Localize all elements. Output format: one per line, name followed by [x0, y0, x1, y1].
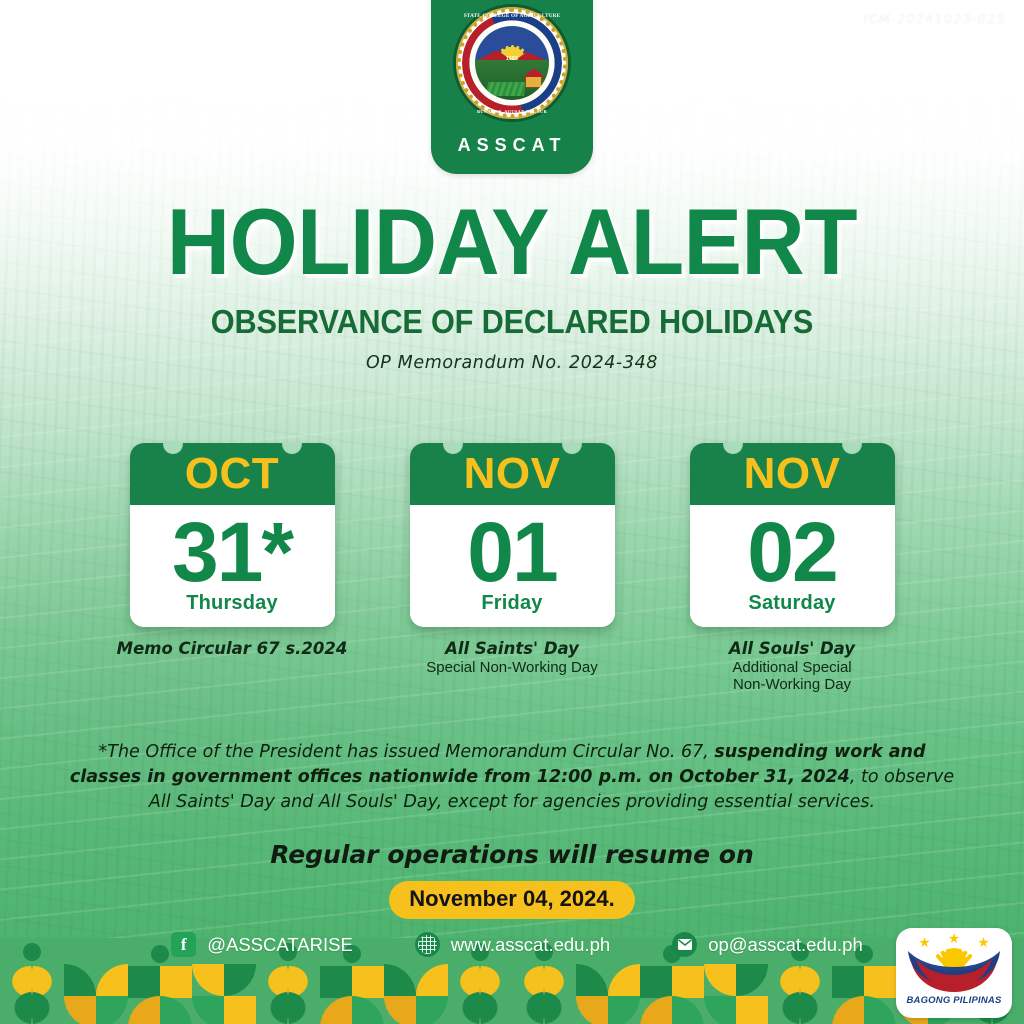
calendar-header: OCT	[130, 443, 335, 505]
calendar-cards: OCT31*ThursdayMemo Circular 67 s.2024NOV…	[0, 443, 1024, 693]
resume-block: Regular operations will resume on Novemb…	[0, 840, 1024, 919]
calendar-body: 02Saturday	[690, 505, 895, 627]
calendar-month: OCT	[185, 452, 279, 496]
holiday-alert-poster: ICM-20241023-025 STATE COLLEGE OF AGRICU…	[0, 0, 1024, 1024]
card-caption: All Souls' DayAdditional SpecialNon-Work…	[729, 639, 855, 694]
card-caption-sub: Additional SpecialNon-Working Day	[729, 659, 855, 694]
calendar-body: 01Friday	[410, 505, 615, 627]
contact-bar: f@ASSCATARISEwww.asscat.edu.phop@asscat.…	[0, 932, 1024, 957]
calendar-notch-left	[723, 443, 743, 454]
card-caption-main: All Souls' Day	[729, 639, 855, 658]
memo-number: OP Memorandum No. 2024-348	[0, 353, 1024, 373]
card-caption-main: All Saints' Day	[426, 639, 597, 658]
email-icon[interactable]	[672, 932, 697, 957]
contact-label: @ASSCATARISE	[207, 934, 353, 956]
bagong-pilipinas-icon	[906, 935, 1002, 993]
calendar-weekday: Saturday	[690, 592, 895, 615]
calendar-day: 31*	[130, 509, 335, 596]
note-paragraph: *The Office of the President has issued …	[62, 740, 962, 815]
title-block: HOLIDAY ALERT OBSERVANCE OF DECLARED HOL…	[0, 196, 1024, 373]
asscat-seal-icon: STATE COLLEGE OF AGRICULTURE BUNAWAN, AG…	[453, 4, 571, 122]
bagong-pilipinas-logo: BAGONG PILIPINAS	[896, 928, 1012, 1018]
asscat-logo-badge: STATE COLLEGE OF AGRICULTURE BUNAWAN, AG…	[431, 0, 593, 174]
calendar-graphic: OCT31*Thursday	[130, 443, 335, 627]
card-caption-sub: Special Non-Working Day	[426, 659, 597, 676]
contact-label: www.asscat.edu.ph	[451, 934, 610, 956]
calendar-card: NOV02SaturdayAll Souls' DayAdditional Sp…	[685, 443, 900, 693]
facebook-icon[interactable]: f	[171, 932, 196, 957]
note-part1: *The Office of the President has issued …	[99, 742, 715, 762]
contact-item[interactable]: f@ASSCATARISE	[171, 932, 353, 957]
calendar-notch-left	[443, 443, 463, 454]
calendar-day: 02	[690, 509, 895, 596]
logo-acronym: ASSCAT	[458, 135, 567, 156]
reference-code: ICM-20241023-025	[864, 11, 1006, 26]
calendar-body: 31*Thursday	[130, 505, 335, 627]
page-title: HOLIDAY ALERT	[36, 196, 988, 287]
calendar-notch-right	[562, 443, 582, 454]
contact-item[interactable]: www.asscat.edu.ph	[415, 932, 610, 957]
calendar-notch-right	[842, 443, 862, 454]
calendar-card: NOV01FridayAll Saints' DaySpecial Non-Wo…	[405, 443, 620, 676]
calendar-graphic: NOV02Saturday	[690, 443, 895, 627]
bagong-pilipinas-label: BAGONG PILIPINAS	[906, 995, 1001, 1006]
calendar-month: NOV	[464, 452, 561, 496]
calendar-weekday: Thursday	[130, 592, 335, 615]
calendar-header: NOV	[410, 443, 615, 505]
resume-text: Regular operations will resume on	[0, 840, 1024, 869]
globe-icon[interactable]	[415, 932, 440, 957]
card-caption-main: Memo Circular 67 s.2024	[117, 639, 348, 658]
calendar-card: OCT31*ThursdayMemo Circular 67 s.2024	[125, 443, 340, 658]
calendar-notch-left	[163, 443, 183, 454]
seal-year: 1985	[506, 56, 518, 62]
calendar-weekday: Friday	[410, 592, 615, 615]
calendar-month: NOV	[744, 452, 841, 496]
card-caption: Memo Circular 67 s.2024	[117, 639, 348, 658]
card-caption: All Saints' DaySpecial Non-Working Day	[426, 639, 597, 677]
calendar-graphic: NOV01Friday	[410, 443, 615, 627]
calendar-header: NOV	[690, 443, 895, 505]
calendar-notch-right	[282, 443, 302, 454]
calendar-day: 01	[410, 509, 615, 596]
contact-label: op@asscat.edu.ph	[708, 934, 863, 956]
contact-item[interactable]: op@asscat.edu.ph	[672, 932, 863, 957]
resume-date-badge: November 04, 2024.	[389, 881, 634, 919]
page-subtitle: OBSERVANCE OF DECLARED HOLIDAYS	[36, 303, 988, 341]
